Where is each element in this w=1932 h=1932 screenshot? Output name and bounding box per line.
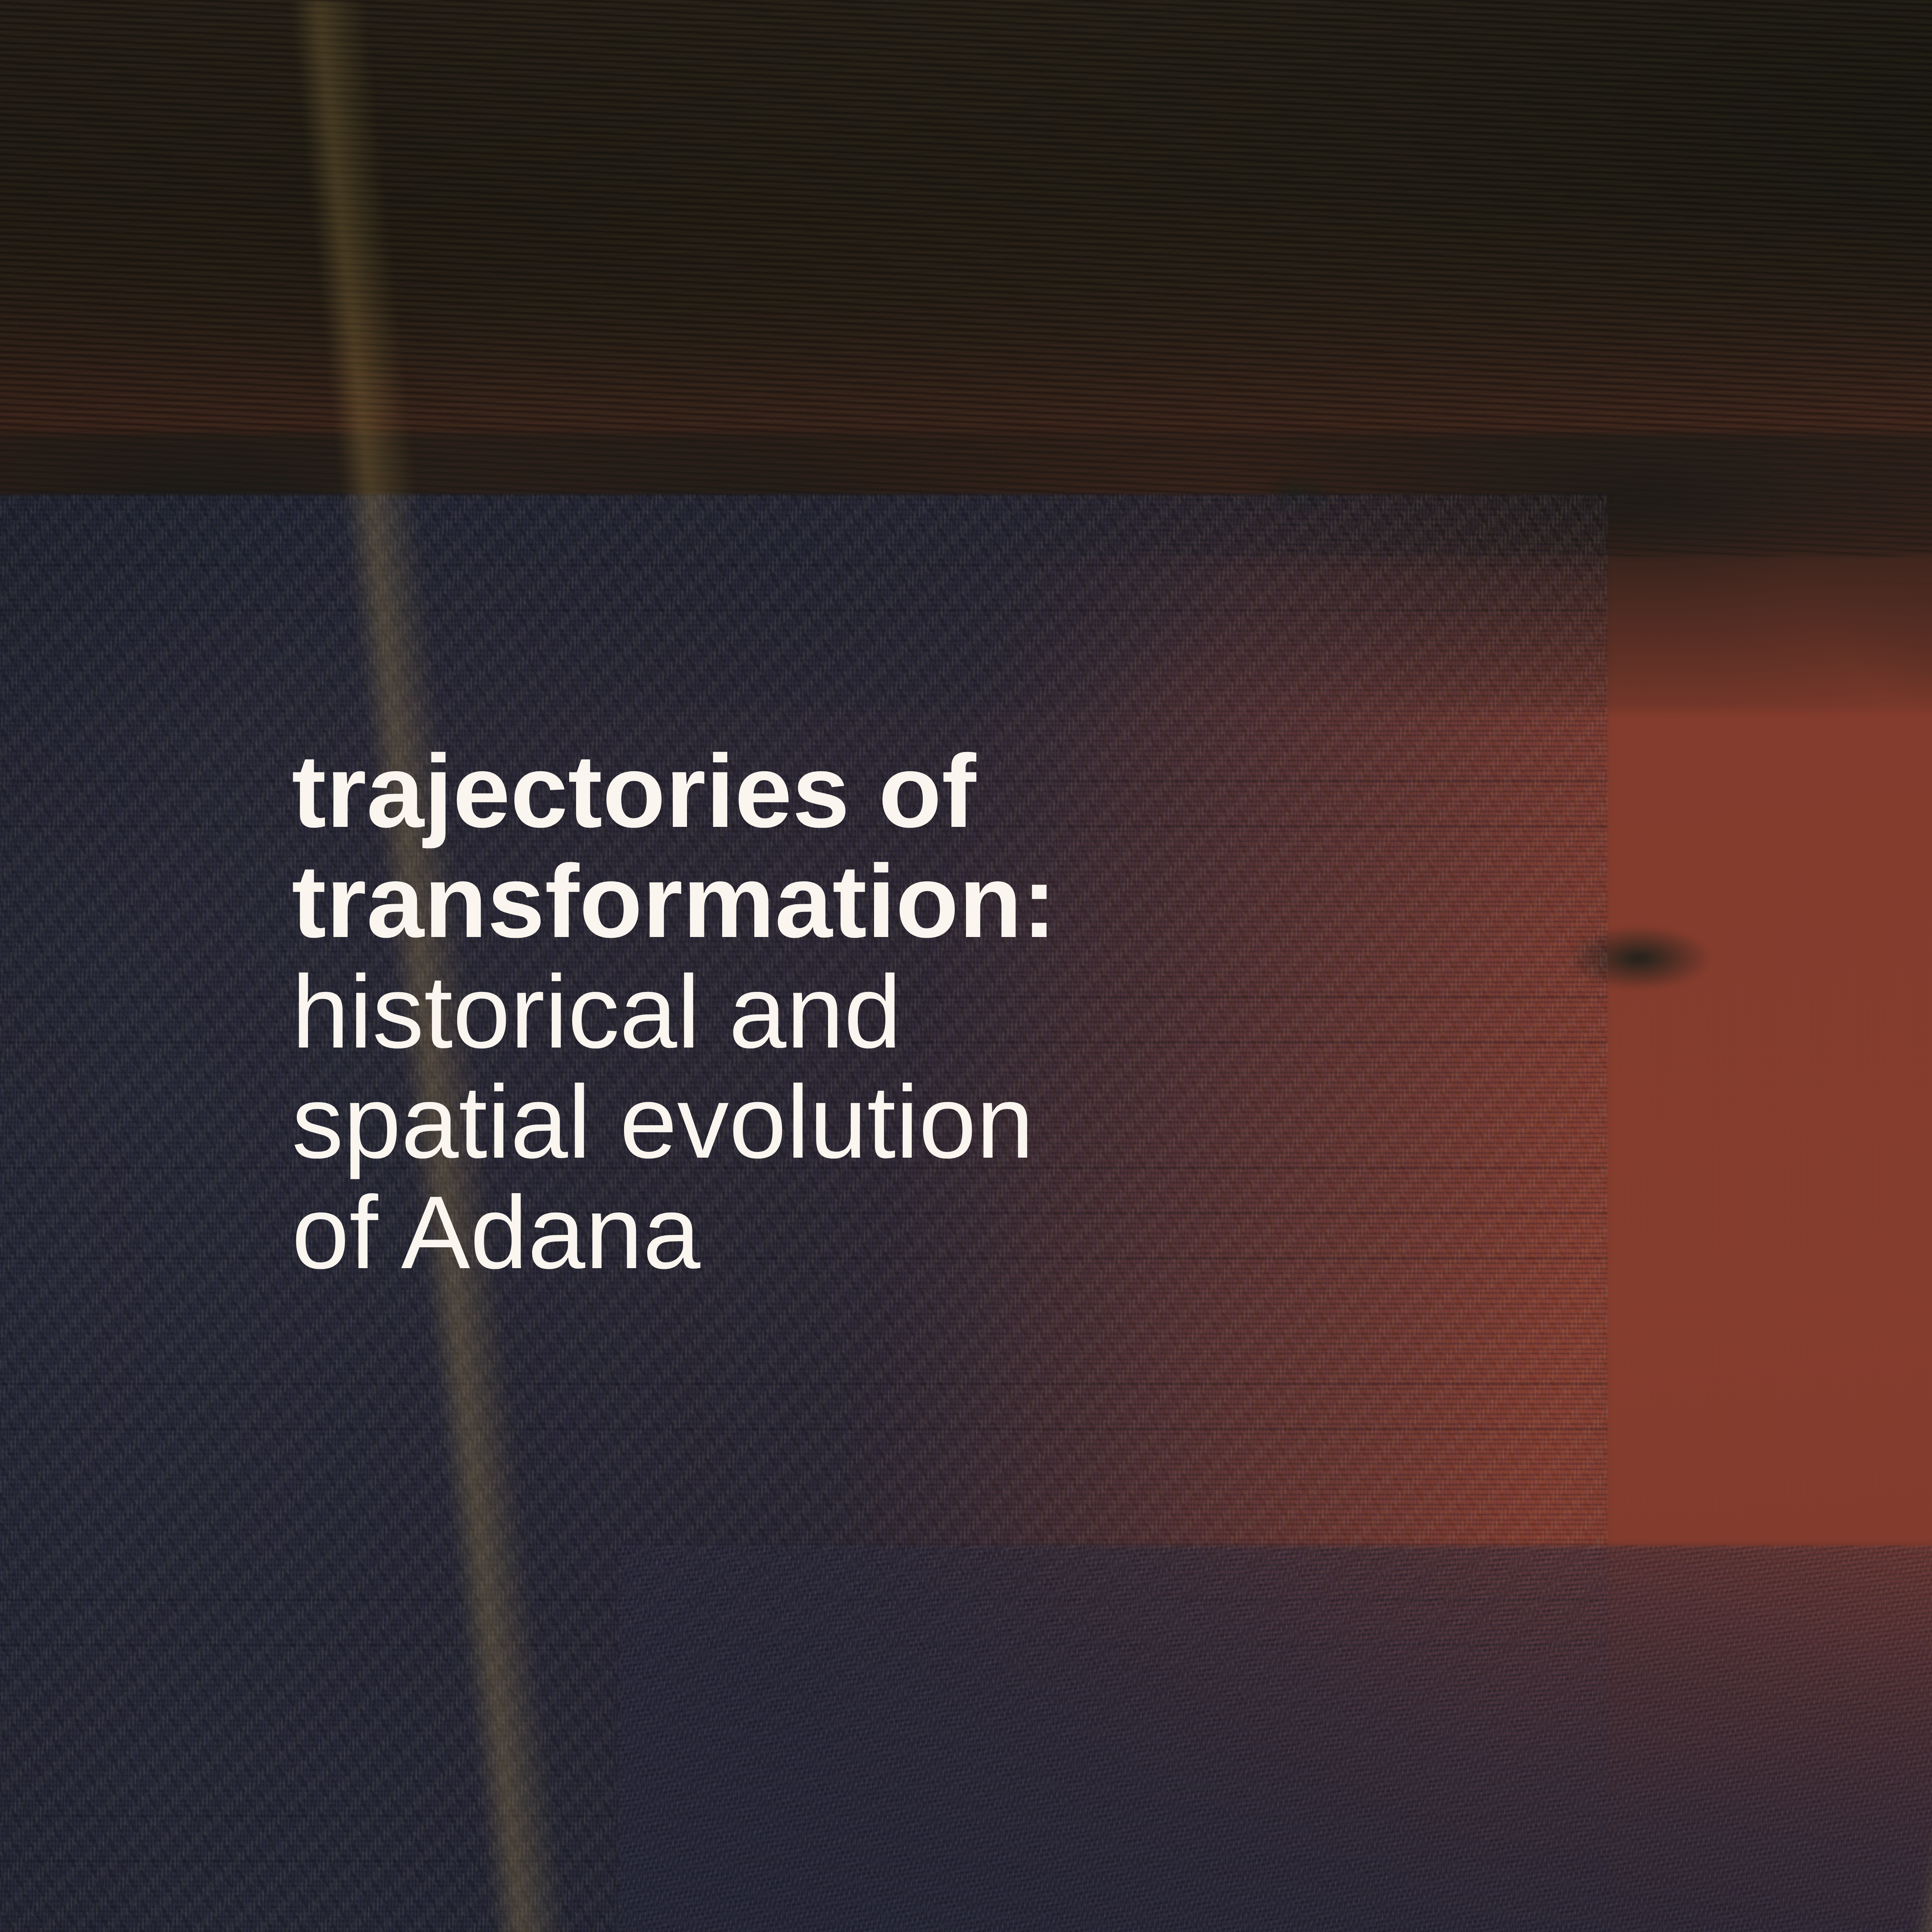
title-line-5: of Adana	[292, 1177, 1056, 1287]
title-line-1: trajectories of	[292, 736, 1056, 846]
title-line-4: spatial evolution	[292, 1067, 1056, 1177]
poster-canvas: TEDU CITY LEC- TU- RES trajectories of t…	[0, 0, 1932, 1932]
lecture-title: trajectories of transformation: historic…	[292, 736, 1056, 1287]
poster-content: TEDU CITY LEC- TU- RES trajectories of t…	[0, 0, 1932, 1932]
title-line-2: transformation:	[292, 846, 1056, 956]
title-line-3: historical and	[292, 957, 1056, 1067]
